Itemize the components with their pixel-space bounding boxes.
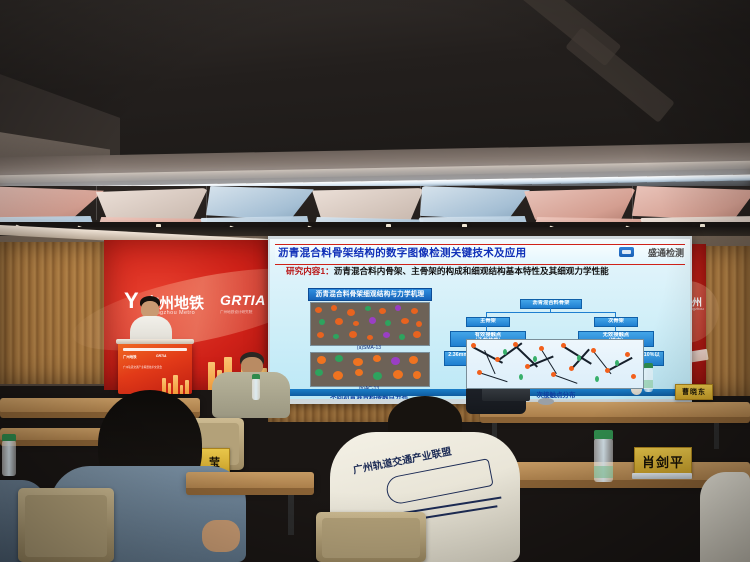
slide-title: 沥青混合料骨架结构的数字图像检测关键技术及应用: [278, 245, 526, 260]
podium: 广州地铁 GRTIA 广州轨道交通产业联盟技术交流会: [118, 342, 192, 394]
name-placard-back: 曹晓东: [675, 384, 713, 400]
projection-screen: 沥青混合料骨架结构的数字图像检测关键技术及应用 盛通检测 研究内容1：沥青混合料…: [268, 236, 692, 404]
podium-partner: GRTIA: [156, 354, 167, 358]
flow-branch1-level1: 主骨架: [466, 317, 510, 327]
water-bottle: [2, 440, 16, 476]
attendee-arm: [202, 520, 240, 552]
chair-front-center: [316, 512, 426, 562]
name-placard-front: 肖剑平: [634, 447, 692, 476]
podium-brand: 广州地铁: [123, 354, 137, 359]
chair-front-left: [18, 488, 114, 562]
slide-subtitle-label: 研究内容1：: [286, 266, 334, 276]
conference-room-photo: Y 广州地铁 Guangzhou Metro GRTIA 广州地铁设计研究院 Y…: [0, 0, 750, 562]
microstructure-caption-a: (a)SMA-13: [310, 345, 428, 351]
water-bottle: [252, 378, 260, 400]
flow-root: 沥青混合料骨架: [520, 299, 582, 309]
slide-right-caption: 次接触点分布: [486, 389, 626, 399]
presentation-slide: 沥青混合料骨架结构的数字图像检测关键技术及应用 盛通检测 研究内容1：沥青混合料…: [270, 239, 690, 399]
slide-section-header: 沥青混合料骨架细观结构与力学机理: [308, 288, 432, 301]
slide-subtitle-body: 沥青混合料内骨架、主骨架的构成和细观结构基本特性及其细观力学性能: [334, 266, 609, 276]
podium-event-line: 广州轨道交通产业联盟技术交流会: [123, 366, 170, 369]
flow-branch2-level1: 次骨架: [594, 317, 638, 327]
attendee-front-right: [700, 472, 750, 562]
podium-top-surface: [116, 339, 194, 344]
attendee-torso: [700, 472, 750, 562]
desk-object: [538, 398, 554, 405]
name-placard-base: [632, 473, 692, 479]
microstructure-image-ac13: [310, 352, 430, 387]
company-logo-icon: [619, 247, 634, 257]
slide-subtitle: 研究内容1：沥青混合料内骨架、主骨架的构成和细观结构基本特性及其细观力学性能: [286, 266, 682, 277]
slide-brand-text: 盛通检测: [648, 246, 684, 259]
grtia-logo-sub: 广州地铁设计研究院: [220, 310, 252, 315]
microstructure-image-sma13: [310, 302, 430, 346]
contact-point-network-image: [466, 339, 644, 389]
grtia-logo: GRTIA: [220, 292, 266, 308]
